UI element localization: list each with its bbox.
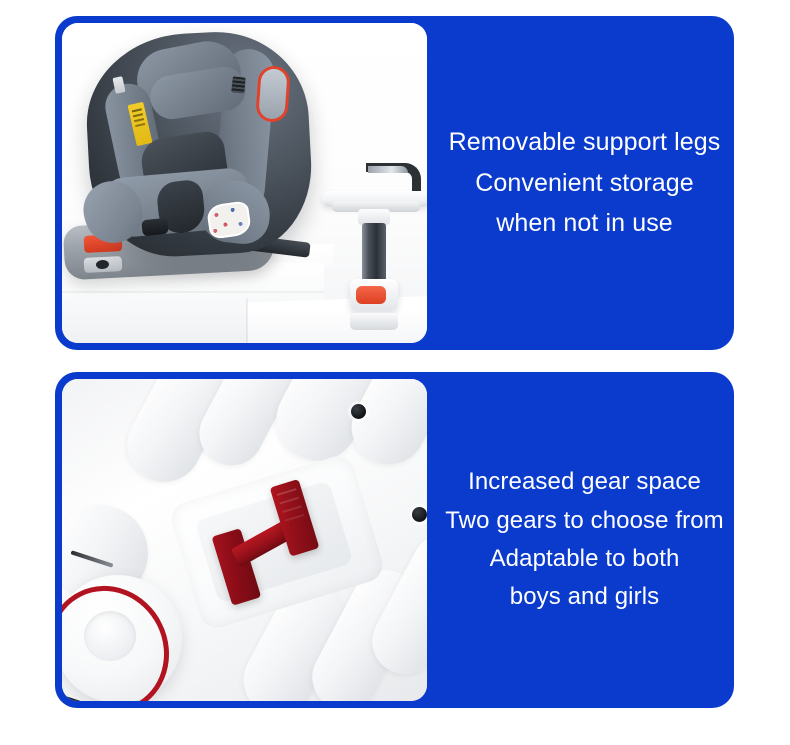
feature-line-1: Removable support legs: [445, 122, 724, 163]
feature-text-support-legs: Removable support legs Convenient storag…: [427, 16, 734, 350]
seat-vent-grille: [231, 76, 246, 93]
feature-text-gear-space: Increased gear space Two gears to choose…: [427, 372, 734, 708]
car-seat-scene: [62, 23, 427, 343]
screw-hole-top: [351, 404, 366, 419]
product-photo-gear-space: [62, 379, 427, 701]
feature-panel-increased-gear-space: Increased gear space Two gears to choose…: [55, 372, 734, 708]
pedestal-edge: [246, 299, 248, 343]
feature-line-2: Two gears to choose from: [445, 502, 724, 540]
product-photo-support-legs: [62, 23, 427, 343]
harness-buckle: [141, 218, 169, 237]
support-leg: [320, 163, 427, 333]
car-seat: [80, 31, 330, 281]
support-leg-hook-chrome: [368, 166, 408, 173]
support-leg-foot: [350, 313, 398, 330]
feature-panel-removable-support-legs: Removable support legs Convenient storag…: [55, 16, 734, 350]
feature-line-1: Increased gear space: [445, 463, 724, 501]
feature-line-4: boys and girls: [445, 578, 724, 616]
support-leg-shaft: [362, 223, 386, 285]
feature-line-2: Convenient storage: [445, 163, 724, 204]
support-leg-release-button: [356, 286, 386, 304]
screw-hole-right: [412, 507, 427, 522]
feature-line-3: when not in use: [445, 203, 724, 244]
rotation-dial: [258, 68, 287, 120]
product-feature-page: Removable support legs Convenient storag…: [0, 0, 790, 745]
feature-line-3: Adaptable to both: [445, 540, 724, 578]
gear-detail-scene: [62, 379, 427, 701]
